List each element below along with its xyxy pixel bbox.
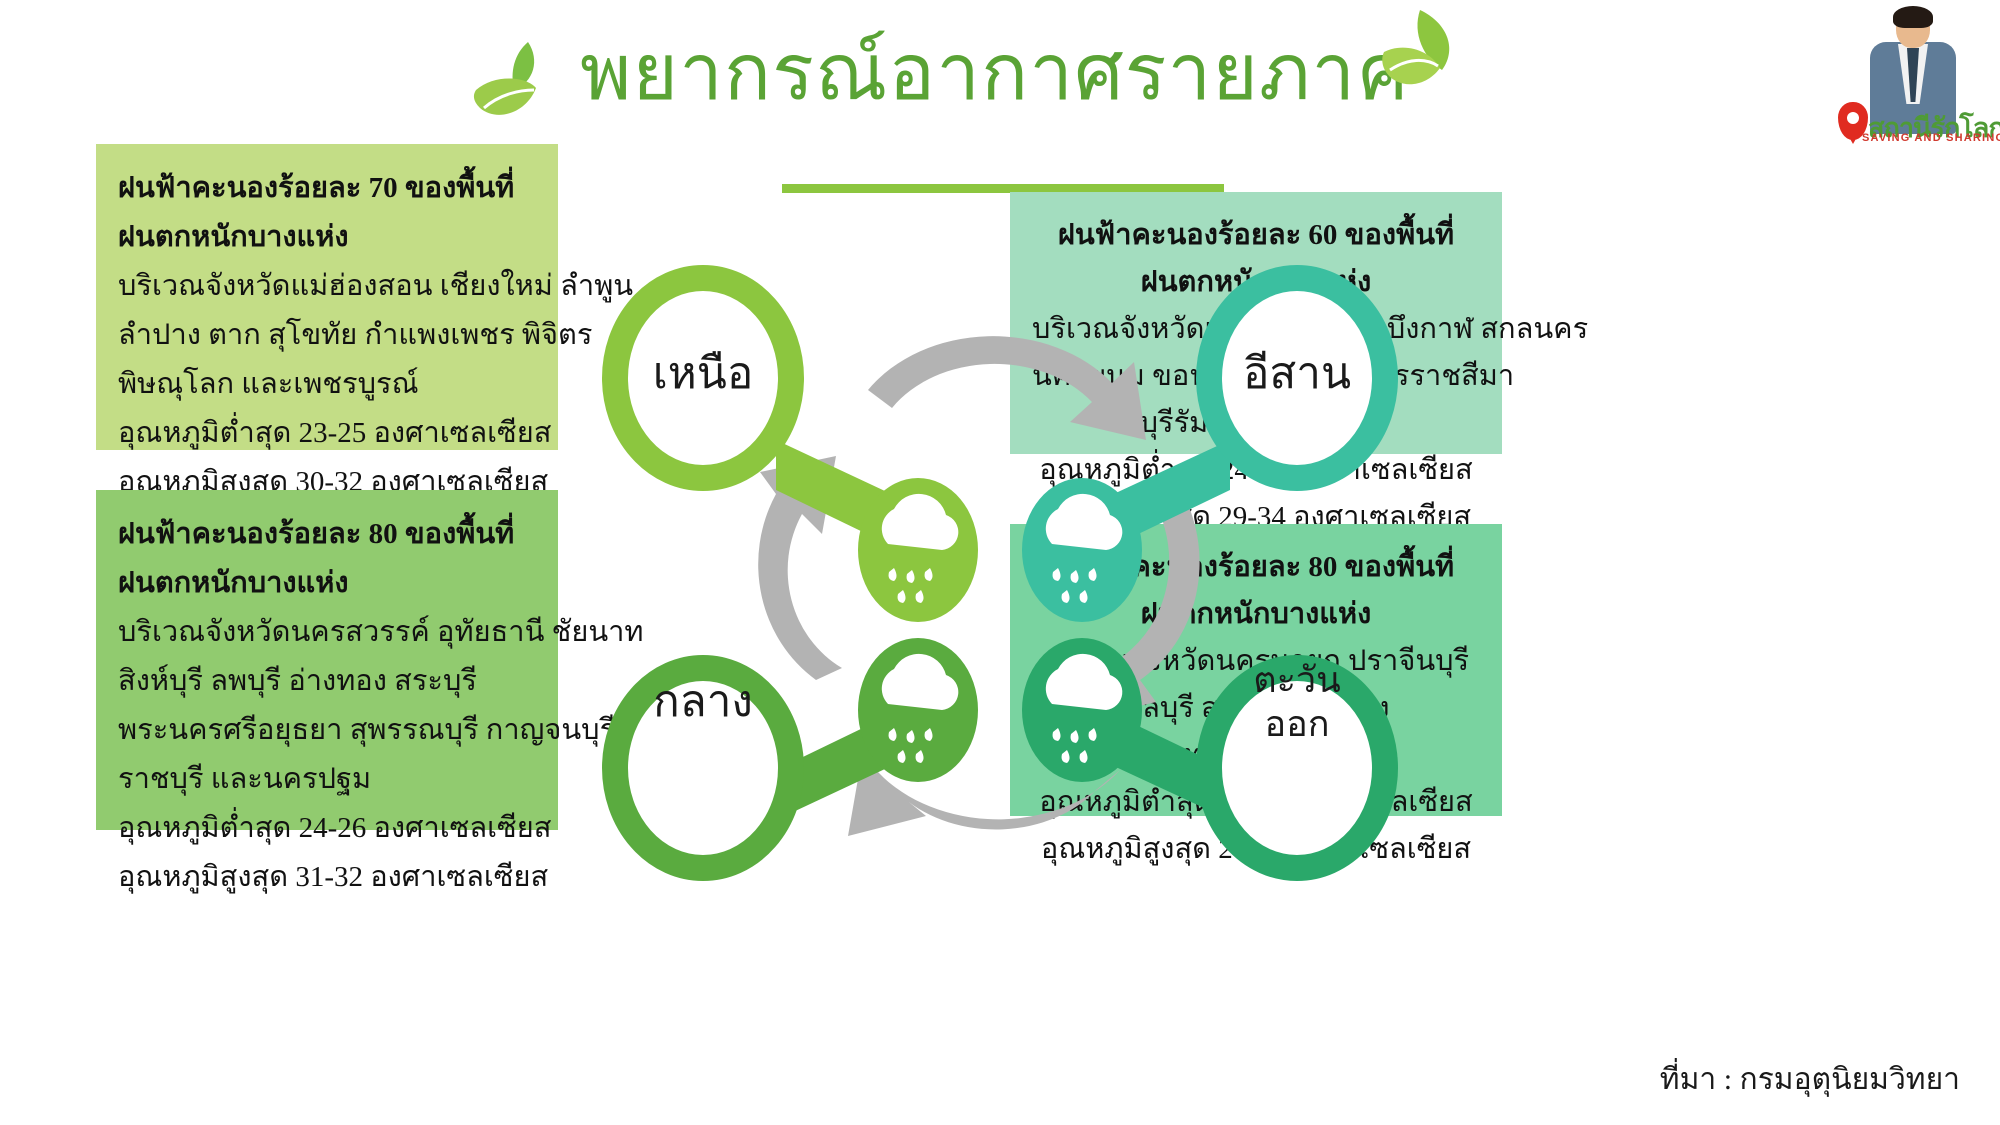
node-north bbox=[615, 278, 791, 478]
region-line: บริเวณจังหวัดแม่ฮ่องสอน เชียงใหม่ ลำพูน bbox=[118, 262, 536, 311]
weather-forecast-infographic: พยากรณ์อากาศรายภาค สถานีรักโลก SAVING AN… bbox=[0, 0, 2000, 1125]
region-line: ฝนฟ้าคะนองร้อยละ 80 ของพื้นที่ bbox=[118, 510, 536, 559]
region-line: ฝนฟ้าคะนองร้อยละ 70 ของพื้นที่ bbox=[118, 164, 536, 213]
source-credit: ที่มา : กรมอุตุนิยมวิทยา bbox=[1660, 1056, 1960, 1103]
node-northeast bbox=[1209, 278, 1385, 478]
cloud-badges bbox=[858, 478, 1142, 782]
region-line: พิษณุโลก และเพชรบูรณ์ bbox=[118, 360, 536, 409]
hair-shape bbox=[1893, 6, 1933, 28]
rain-cloud-icon-north bbox=[858, 478, 978, 622]
rain-cloud-icon-central bbox=[858, 638, 978, 782]
diagram-svg bbox=[600, 250, 1400, 890]
region-nodes bbox=[615, 278, 1385, 868]
region-line: ฝนตกหนักบางแห่ง bbox=[118, 213, 536, 262]
region-box-north: ฝนฟ้าคะนองร้อยละ 70 ของพื้นที่ฝนตกหนักบา… bbox=[96, 144, 558, 450]
leaf-icon bbox=[1380, 8, 1466, 104]
region-line: บริเวณจังหวัดนครสวรรค์ อุทัยธานี ชัยนาท bbox=[118, 608, 536, 657]
node-central bbox=[615, 668, 791, 868]
region-line: อุณหภูมิต่ำสุด 23-25 องศาเซลเซียส bbox=[118, 409, 536, 458]
region-cycle-diagram: เหนือ อีสาน กลาง ตะวัน ออก bbox=[600, 250, 1400, 890]
region-line: ราชบุรี และนครปฐม bbox=[118, 755, 536, 804]
region-line: อุณหภูมิสูงสุด 31-32 องศาเซลเซียส bbox=[118, 853, 536, 902]
rain-cloud-icon-east bbox=[1022, 638, 1142, 782]
brand-tagline-en: SAVING AND SHARING bbox=[1862, 132, 2000, 144]
rain-cloud-icon-northeast bbox=[1022, 478, 1142, 622]
node-east bbox=[1209, 668, 1385, 868]
region-line: สิงห์บุรี ลพบุรี อ่างทอง สระบุรี bbox=[118, 657, 536, 706]
region-box-central: ฝนฟ้าคะนองร้อยละ 80 ของพื้นที่ฝนตกหนักบา… bbox=[96, 490, 558, 830]
page-title: พยากรณ์อากาศรายภาค bbox=[580, 30, 1400, 116]
leaf-icon bbox=[470, 38, 566, 134]
region-line: ลำปาง ตาก สุโขทัย กำแพงเพชร พิจิตร bbox=[118, 311, 536, 360]
region-line: พระนครศรีอยุธยา สุพรรณบุรี กาญจนบุรี bbox=[118, 706, 536, 755]
brand-logo: สถานีรักโลก SAVING AND SHARING bbox=[1832, 2, 1994, 142]
region-line: ฝนตกหนักบางแห่ง bbox=[118, 559, 536, 608]
region-line: อุณหภูมิต่ำสุด 24-26 องศาเซลเซียส bbox=[118, 804, 536, 853]
